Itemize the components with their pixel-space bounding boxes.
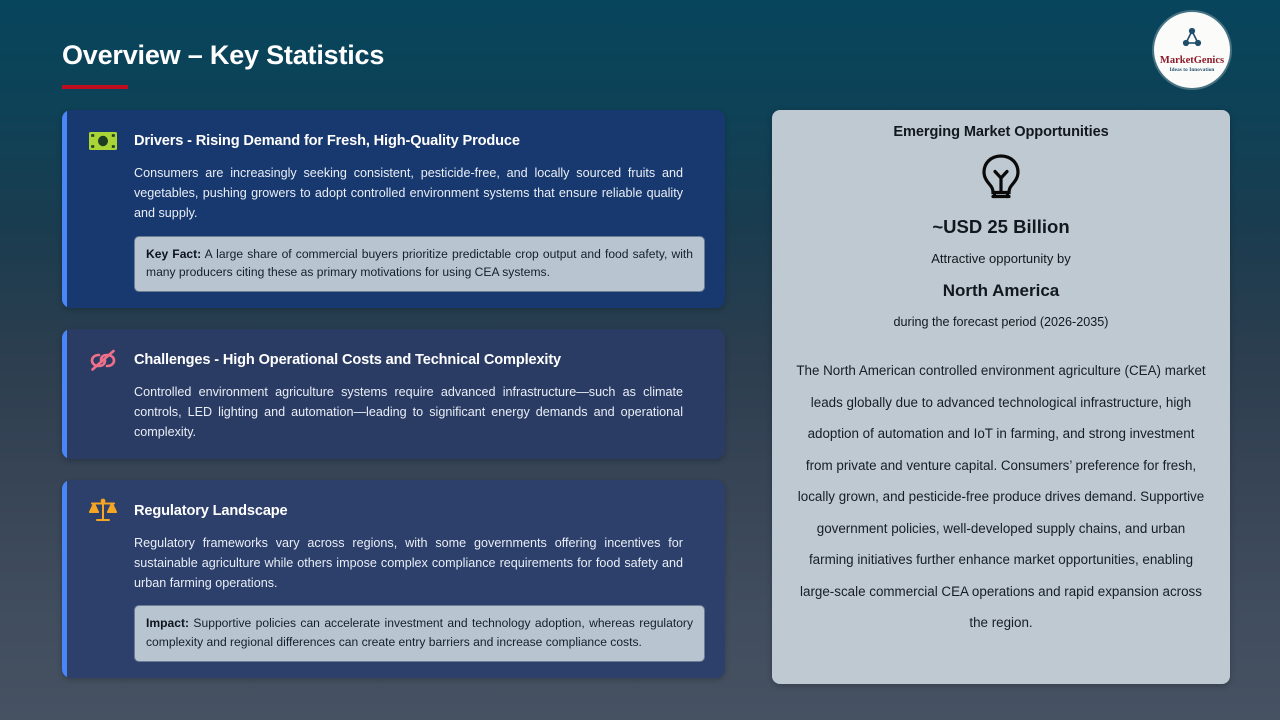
market-value: ~USD 25 Billion — [796, 216, 1206, 238]
network-node-mark-icon — [1179, 26, 1205, 55]
key-fact-text: A large share of commercial buyers prior… — [146, 247, 693, 280]
opportunity-subtitle: Attractive opportunity by — [796, 251, 1206, 266]
card-accent-bar — [62, 480, 67, 678]
impact-box: Impact: Supportive policies can accelera… — [134, 605, 705, 661]
key-fact-label: Key Fact: — [146, 247, 201, 261]
card-title: Regulatory Landscape — [134, 496, 288, 520]
card-accent-bar — [62, 110, 67, 308]
broken-link-icon — [86, 343, 120, 377]
title-underline-accent — [62, 85, 128, 89]
logo-tagline: Ideas to Innovation — [1170, 67, 1215, 74]
card-body-text: Consumers are increasingly seeking consi… — [134, 164, 705, 224]
card-title: Challenges - High Operational Costs and … — [134, 345, 561, 369]
card-header: Challenges - High Operational Costs and … — [86, 345, 705, 377]
logo-name: MarketGenics — [1160, 56, 1224, 67]
money-banknote-icon — [86, 124, 120, 158]
brand-logo: MarketGenics Ideas to Innovation — [1154, 12, 1230, 88]
emerging-market-panel: Emerging Market Opportunities ~USD 25 Bi… — [772, 110, 1230, 684]
panel-title: Emerging Market Opportunities — [796, 124, 1206, 140]
card-accent-bar — [62, 329, 67, 459]
page-title: Overview – Key Statistics — [62, 40, 384, 71]
key-fact-box: Key Fact: A large share of commercial bu… — [134, 236, 705, 292]
impact-label: Impact: — [146, 616, 189, 630]
card-drivers[interactable]: Drivers - Rising Demand for Fresh, High-… — [62, 110, 725, 308]
region-name: North America — [796, 281, 1206, 301]
card-header: Drivers - Rising Demand for Fresh, High-… — [86, 126, 705, 158]
lightbulb-icon — [796, 152, 1206, 208]
card-regulatory[interactable]: Regulatory Landscape Regulatory framewor… — [62, 480, 725, 678]
forecast-period: during the forecast period (2026-2035) — [796, 315, 1206, 329]
card-body-text: Regulatory frameworks vary across region… — [134, 534, 705, 594]
card-header: Regulatory Landscape — [86, 496, 705, 528]
card-challenges[interactable]: Challenges - High Operational Costs and … — [62, 329, 725, 459]
card-title: Drivers - Rising Demand for Fresh, High-… — [134, 126, 520, 150]
card-body-text: Controlled environment agriculture syste… — [134, 383, 705, 443]
impact-text: Supportive policies can accelerate inves… — [146, 616, 693, 649]
balance-scales-icon — [86, 494, 120, 528]
panel-paragraph: The North American controlled environmen… — [796, 355, 1206, 639]
left-column: Drivers - Rising Demand for Fresh, High-… — [62, 110, 725, 699]
